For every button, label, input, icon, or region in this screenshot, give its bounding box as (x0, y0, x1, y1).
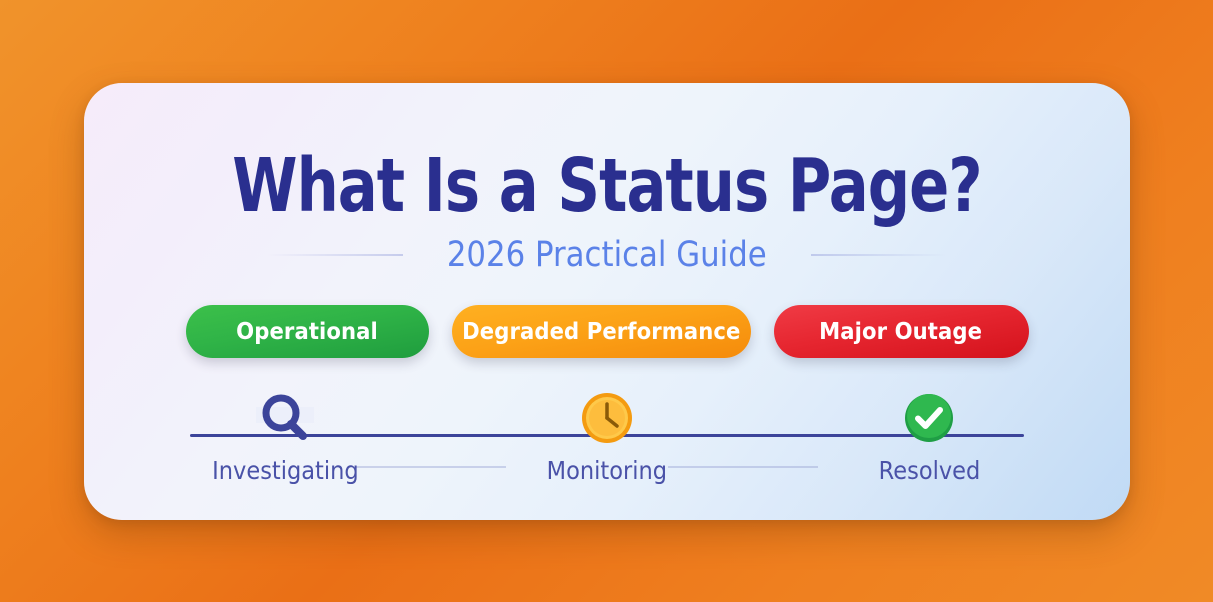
subtitle-row: 2026 Practical Guide (84, 231, 1130, 279)
subtitle-divider-left (267, 254, 403, 256)
page-title: What Is a Status Page? (189, 142, 1026, 230)
timeline-step-investigating-label: Investigating (212, 456, 359, 486)
status-badge-operational-label: Operational (236, 319, 378, 345)
incident-timeline: Investigating Monitoring (190, 386, 1024, 494)
status-badge-major-outage[interactable]: Major Outage (774, 305, 1029, 358)
status-badge-major-outage-label: Major Outage (820, 319, 983, 345)
status-page-card: What Is a Status Page? 2026 Practical Gu… (84, 83, 1130, 520)
timeline-step-resolved-label: Resolved (878, 456, 980, 486)
page-subtitle: 2026 Practical Guide (447, 233, 767, 277)
status-badge-degraded-performance[interactable]: Degraded Performance (452, 305, 751, 358)
subtitle-divider-right (811, 254, 947, 256)
status-badge-operational[interactable]: Operational (186, 305, 429, 358)
timeline-steps: Investigating Monitoring (190, 386, 1024, 494)
status-badge-degraded-performance-label: Degraded Performance (462, 319, 740, 345)
clock-icon (579, 390, 635, 446)
check-circle-icon (901, 390, 957, 446)
timeline-icon-slot (254, 386, 316, 450)
timeline-step-investigating[interactable]: Investigating (190, 386, 380, 486)
magnifier-icon (254, 387, 316, 449)
timeline-step-monitoring-label: Monitoring (547, 456, 667, 486)
status-badge-group: Operational Degraded Performance Major O… (84, 305, 1130, 358)
timeline-step-resolved[interactable]: Resolved (834, 386, 1024, 486)
timeline-icon-slot (579, 386, 635, 450)
timeline-icon-slot (901, 386, 957, 450)
timeline-step-monitoring[interactable]: Monitoring (512, 386, 702, 486)
